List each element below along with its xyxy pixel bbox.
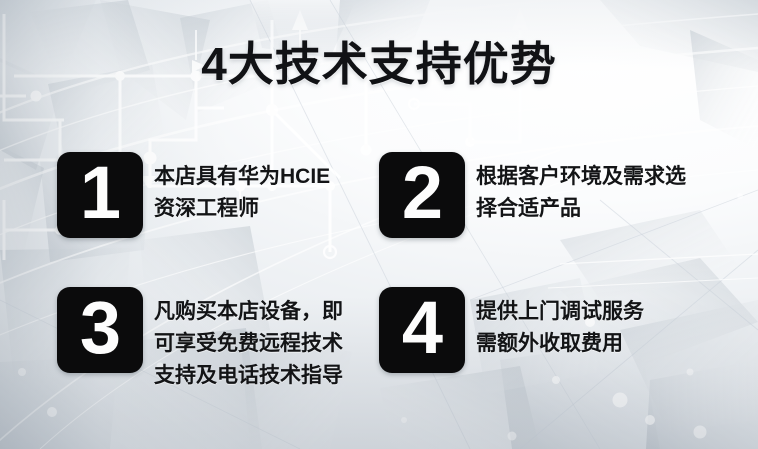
advantage-text-1: 本店具有华为HCIE 资深工程师 (154, 152, 330, 225)
advantages-grid: 1 本店具有华为HCIE 资深工程师 2 根据客户环境及需求选 择合适产品 3 … (57, 152, 717, 392)
advantage-text-line: 需额外收取费用 (476, 328, 644, 360)
advantage-number-badge-3: 3 (57, 287, 143, 373)
advantage-number-badge-1: 1 (57, 152, 143, 238)
advantage-text-line: 根据客户环境及需求选 (476, 161, 686, 193)
advantage-number-3: 3 (80, 291, 120, 365)
advantage-text-line: 提供上门调试服务 (476, 296, 644, 328)
advantage-text-line: 支持及电话技术指导 (154, 360, 343, 392)
advantage-number-badge-4: 4 (379, 287, 465, 373)
advantage-item-4: 4 提供上门调试服务 需额外收取费用 (379, 287, 644, 373)
advantage-text-line: 本店具有华为HCIE (154, 161, 330, 193)
advantage-text-2: 根据客户环境及需求选 择合适产品 (476, 152, 686, 225)
advantage-text-3: 凡购买本店设备，即 可享受免费远程技术 支持及电话技术指导 (154, 287, 343, 392)
advantage-text-line: 可享受免费远程技术 (154, 328, 343, 360)
advantage-text-4: 提供上门调试服务 需额外收取费用 (476, 287, 644, 360)
advantage-text-line: 择合适产品 (476, 193, 686, 225)
advantage-number-1: 1 (80, 156, 120, 230)
page-title: 4大技术支持优势 (0, 36, 758, 92)
advantage-text-line: 资深工程师 (154, 193, 330, 225)
poster-canvas: 4大技术支持优势 1 本店具有华为HCIE 资深工程师 2 根据客户环境及需求选… (0, 0, 758, 449)
advantage-item-2: 2 根据客户环境及需求选 择合适产品 (379, 152, 686, 238)
advantage-number-4: 4 (402, 291, 442, 365)
advantage-item-3: 3 凡购买本店设备，即 可享受免费远程技术 支持及电话技术指导 (57, 287, 343, 392)
advantage-item-1: 1 本店具有华为HCIE 资深工程师 (57, 152, 330, 238)
advantage-number-badge-2: 2 (379, 152, 465, 238)
advantage-number-2: 2 (402, 156, 442, 230)
advantage-text-line: 凡购买本店设备，即 (154, 296, 343, 328)
